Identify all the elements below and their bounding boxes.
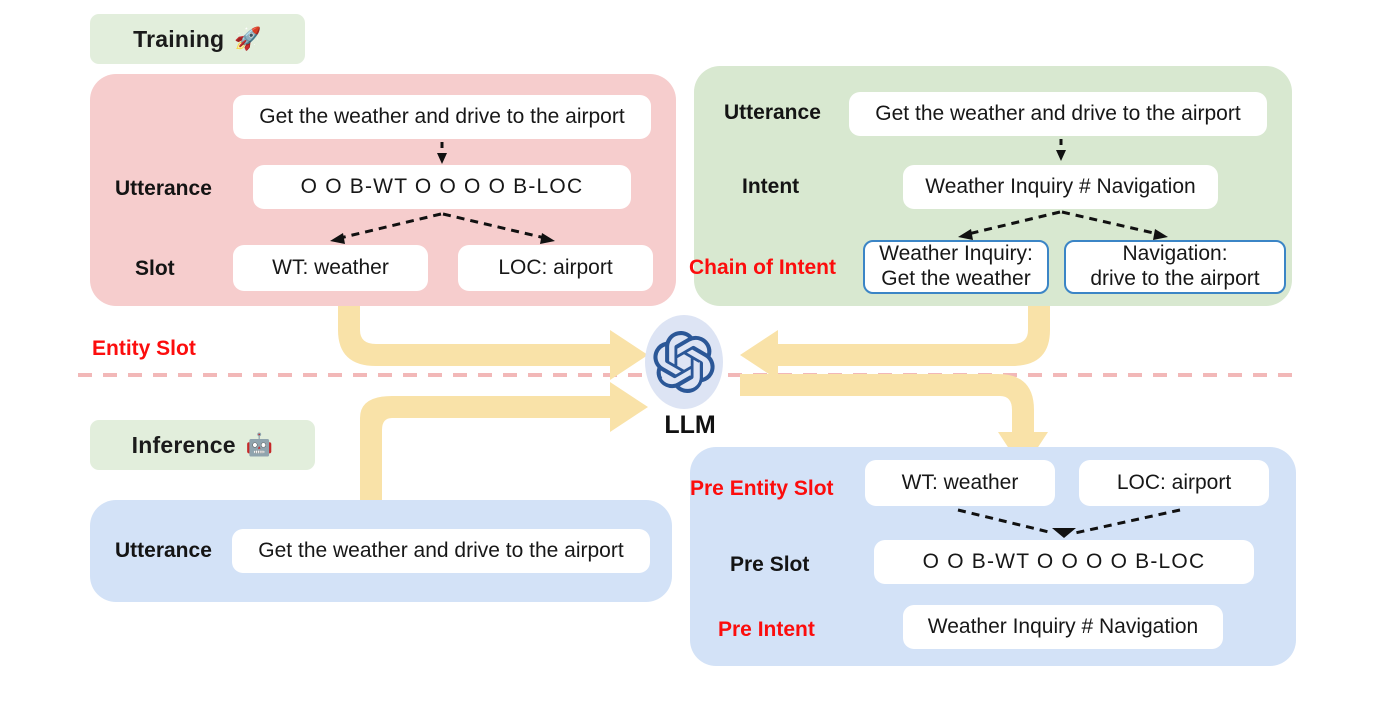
llm-label: LLM: [645, 411, 735, 440]
rocket-emoji: 🚀: [234, 28, 262, 50]
row-label-pre-slot: Pre Slot: [730, 548, 864, 582]
openai-logo: [653, 331, 715, 393]
row-label-utterance: Utterance: [115, 172, 245, 206]
arrow-train-slot-to-llm: [338, 305, 648, 380]
inference-utterance-box: Get the weather and drive to the airport: [232, 529, 650, 573]
training-utterance-box: Get the weather and drive to the airport: [233, 95, 651, 139]
chain-of-intent-box-navigation: Navigation: drive to the airport: [1064, 240, 1286, 294]
llm-node[interactable]: LLM: [645, 315, 735, 415]
row-label-pre-entity-slot: Pre Entity Slot: [690, 472, 864, 506]
row-label-utterance-inference: Utterance: [115, 534, 250, 568]
training-entity-slot-box-loc: LOC: airport: [458, 245, 653, 291]
pre-intent-box: Weather Inquiry # Navigation: [903, 605, 1223, 649]
row-label-pre-intent: Pre Intent: [718, 613, 864, 647]
llm-logo-circle: [645, 315, 723, 409]
pre-entity-slot-box-loc: LOC: airport: [1079, 460, 1269, 506]
chain-of-intent-navigation-line1: Navigation:: [1122, 242, 1227, 267]
row-label-intent: Intent: [742, 170, 864, 204]
diagram-canvas: .ya { fill: #f9e2a8; } Training 🚀 Uttera…: [0, 0, 1377, 716]
stage-chip-training: Training 🚀: [90, 14, 305, 64]
robot-emoji: 🤖: [246, 434, 274, 456]
row-label-chain-of-intent: Chain of Intent: [689, 251, 864, 285]
row-label-slot: Slot: [135, 252, 245, 286]
chain-of-intent-box-weather: Weather Inquiry: Get the weather: [863, 240, 1049, 294]
chain-of-intent-navigation-line2: drive to the airport: [1090, 267, 1259, 292]
pre-slot-box: O O B-WT O O O O B-LOC: [874, 540, 1254, 584]
row-label-utterance-green: Utterance: [724, 96, 864, 130]
pre-entity-slot-box-wt: WT: weather: [865, 460, 1055, 506]
stage-label-training: Training: [133, 26, 224, 53]
training-entity-slot-box-wt: WT: weather: [233, 245, 428, 291]
arrow-train-intent-to-llm: [740, 305, 1050, 380]
stage-label-inference: Inference: [132, 432, 236, 459]
training-slot-box: O O B-WT O O O O B-LOC: [253, 165, 631, 209]
chain-of-intent-weather-line2: Get the weather: [881, 267, 1030, 292]
row-label-entity-slot: Entity Slot: [92, 332, 245, 366]
stage-chip-inference: Inference 🤖: [90, 420, 315, 470]
training-intent-utterance-box: Get the weather and drive to the airport: [849, 92, 1267, 136]
training-intent-box: Weather Inquiry # Navigation: [903, 165, 1218, 209]
arrow-inference-input-to-llm: [360, 382, 648, 512]
chain-of-intent-weather-line1: Weather Inquiry:: [879, 242, 1033, 267]
